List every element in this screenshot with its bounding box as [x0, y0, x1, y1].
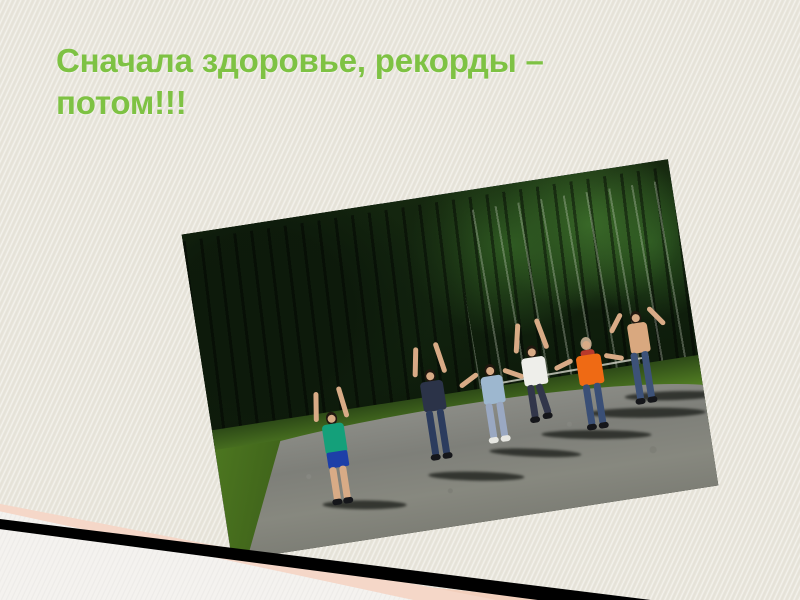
photo-person-2-arm-right [432, 342, 447, 374]
slide-canvas: Сначала здоровье, рекорды – потом!!! [0, 0, 800, 600]
photo-person-1-leg-right [339, 465, 351, 500]
photo-person-4-arm-left [514, 323, 521, 353]
photo-person-1-arm-right [336, 385, 350, 417]
photo-person-1-shorts [327, 449, 350, 468]
photo-frame [182, 159, 719, 560]
photo-person-6-leg-right [641, 351, 655, 400]
photo-person-3-shoe-left [488, 437, 499, 444]
photo-person-3-leg-right [496, 401, 508, 438]
photo-person-5-torso [576, 353, 605, 386]
photo-person-2-torso [419, 380, 446, 413]
page-title-line-1: Сначала здоровье, рекорды – [56, 40, 696, 82]
photo-person-2-arm-left [412, 347, 418, 377]
page-title: Сначала здоровье, рекорды – потом!!! [56, 40, 696, 124]
photo-person-3-shoe-right [500, 435, 511, 442]
photo-person-6-torso [627, 322, 651, 355]
photo-person-5-shoe-left [587, 423, 598, 430]
photo-person-5-shoe-right [599, 422, 610, 429]
photo-person-4-torso [521, 355, 549, 386]
slide-photo[interactable] [182, 159, 719, 560]
photo-person-4-shoe-right [542, 412, 553, 419]
photo-person-4-arm-right [534, 317, 550, 349]
photo-person-1-shoe-left [332, 498, 343, 505]
photo-person-2-leg-right [436, 409, 450, 456]
photo-person-5-leg-right [593, 382, 606, 425]
photo-person-6-shoe-left [635, 398, 646, 405]
photo-person-2-shoe-left [430, 454, 441, 461]
photo-person-6-shoe-right [647, 396, 658, 403]
page-title-line-2: потом!!! [56, 82, 696, 124]
photo-person-3-torso [480, 374, 506, 405]
photo-person-1-arm-left [314, 392, 319, 422]
photo-person-1-shoe-right [343, 496, 354, 503]
photo-person-2-shoe-right [442, 452, 453, 459]
photo-person-3-leg-left [485, 403, 497, 440]
photo-person-4-shoe-left [530, 416, 541, 423]
